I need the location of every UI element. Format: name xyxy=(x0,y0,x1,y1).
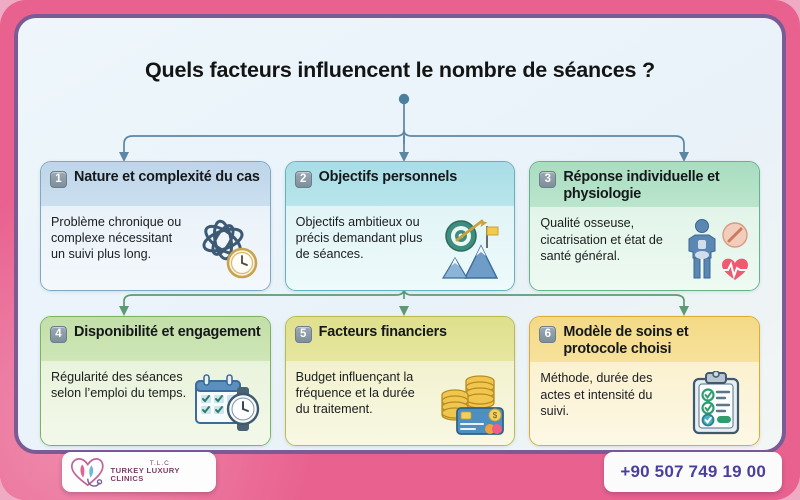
card-number-badge: 2 xyxy=(295,171,312,188)
card-description: Régularité des séances selon l’emploi du… xyxy=(51,369,187,401)
card-title: Disponibilité et engagement xyxy=(74,324,261,341)
card-body: Objectifs ambitieux ou précis demandant … xyxy=(286,206,515,290)
phone-number-chip[interactable]: +90 507 749 19 00 xyxy=(604,452,782,492)
card-row-2: 4 Disponibilité et engagement Régularité… xyxy=(40,316,760,446)
card-header: 4 Disponibilité et engagement xyxy=(41,317,270,361)
factor-card-4[interactable]: 4 Disponibilité et engagement Régularité… xyxy=(40,316,271,446)
infographic-panel: Quels facteurs influencent le nombre de … xyxy=(14,14,786,454)
factor-card-6[interactable]: 6 Modèle de soins et protocole choisi Mé… xyxy=(529,316,760,446)
card-number-badge: 4 xyxy=(50,326,67,343)
heart-stethoscope-logo-icon xyxy=(69,455,107,489)
factor-card-5[interactable]: 5 Facteurs financiers Budget influençant… xyxy=(285,316,516,446)
coins-credit-card-icon: $ xyxy=(435,371,507,437)
card-description: Qualité osseuse, cicatrisation et état d… xyxy=(540,215,676,263)
card-title: Modèle de soins et protocole choisi xyxy=(563,324,750,357)
card-header: 6 Modèle de soins et protocole choisi xyxy=(530,317,759,362)
logo-text-block: T.L.C TURKEY LUXURY CLINICS xyxy=(111,461,209,484)
card-body: Qualité osseuse, cicatrisation et état d… xyxy=(530,207,759,290)
target-arrow-mountain-icon xyxy=(435,216,507,282)
card-description: Problème chronique ou complexe nécessita… xyxy=(51,214,187,262)
card-number-badge: 3 xyxy=(539,171,556,188)
card-body: Budget influençant la fréquence et la du… xyxy=(286,361,515,445)
card-title: Objectifs personnels xyxy=(319,169,457,186)
factor-card-1[interactable]: 1 Nature et complexité du cas Problème c… xyxy=(40,161,271,291)
card-row-1: 1 Nature et complexité du cas Problème c… xyxy=(40,161,760,291)
card-number-badge: 6 xyxy=(539,326,556,343)
factor-card-2[interactable]: 2 Objectifs personnels Objectifs ambitie… xyxy=(285,161,516,291)
svg-text:$: $ xyxy=(493,411,498,420)
card-description: Budget influençant la fréquence et la du… xyxy=(296,369,432,417)
human-body-bone-heart-icon xyxy=(680,216,752,282)
card-title: Nature et complexité du cas xyxy=(74,169,260,186)
card-header: 5 Facteurs financiers xyxy=(286,317,515,361)
card-body: Méthode, durée des actes et intensité du… xyxy=(530,362,759,445)
card-header: 3 Réponse individuelle et physiologie xyxy=(530,162,759,207)
clinic-logo-chip[interactable]: T.L.C TURKEY LUXURY CLINICS xyxy=(62,452,216,492)
calendar-watch-icon xyxy=(191,371,263,437)
card-body: Régularité des séances selon l’emploi du… xyxy=(41,361,270,445)
card-description: Méthode, durée des actes et intensité du… xyxy=(540,370,676,418)
card-number-badge: 5 xyxy=(295,326,312,343)
card-title: Facteurs financiers xyxy=(319,324,447,341)
card-title: Réponse individuelle et physiologie xyxy=(563,169,750,202)
card-description: Objectifs ambitieux ou précis demandant … xyxy=(296,214,432,262)
card-header: 2 Objectifs personnels xyxy=(286,162,515,206)
logo-full-name: TURKEY LUXURY CLINICS xyxy=(111,467,209,483)
page-title: Quels facteurs influencent le nombre de … xyxy=(18,58,782,83)
card-header: 1 Nature et complexité du cas xyxy=(41,162,270,206)
tangled-knot-clock-icon xyxy=(191,216,263,282)
card-number-badge: 1 xyxy=(50,171,67,188)
card-body: Problème chronique ou complexe nécessita… xyxy=(41,206,270,290)
factor-card-3[interactable]: 3 Réponse individuelle et physiologie Qu… xyxy=(529,161,760,291)
clipboard-checklist-icon xyxy=(680,371,752,437)
